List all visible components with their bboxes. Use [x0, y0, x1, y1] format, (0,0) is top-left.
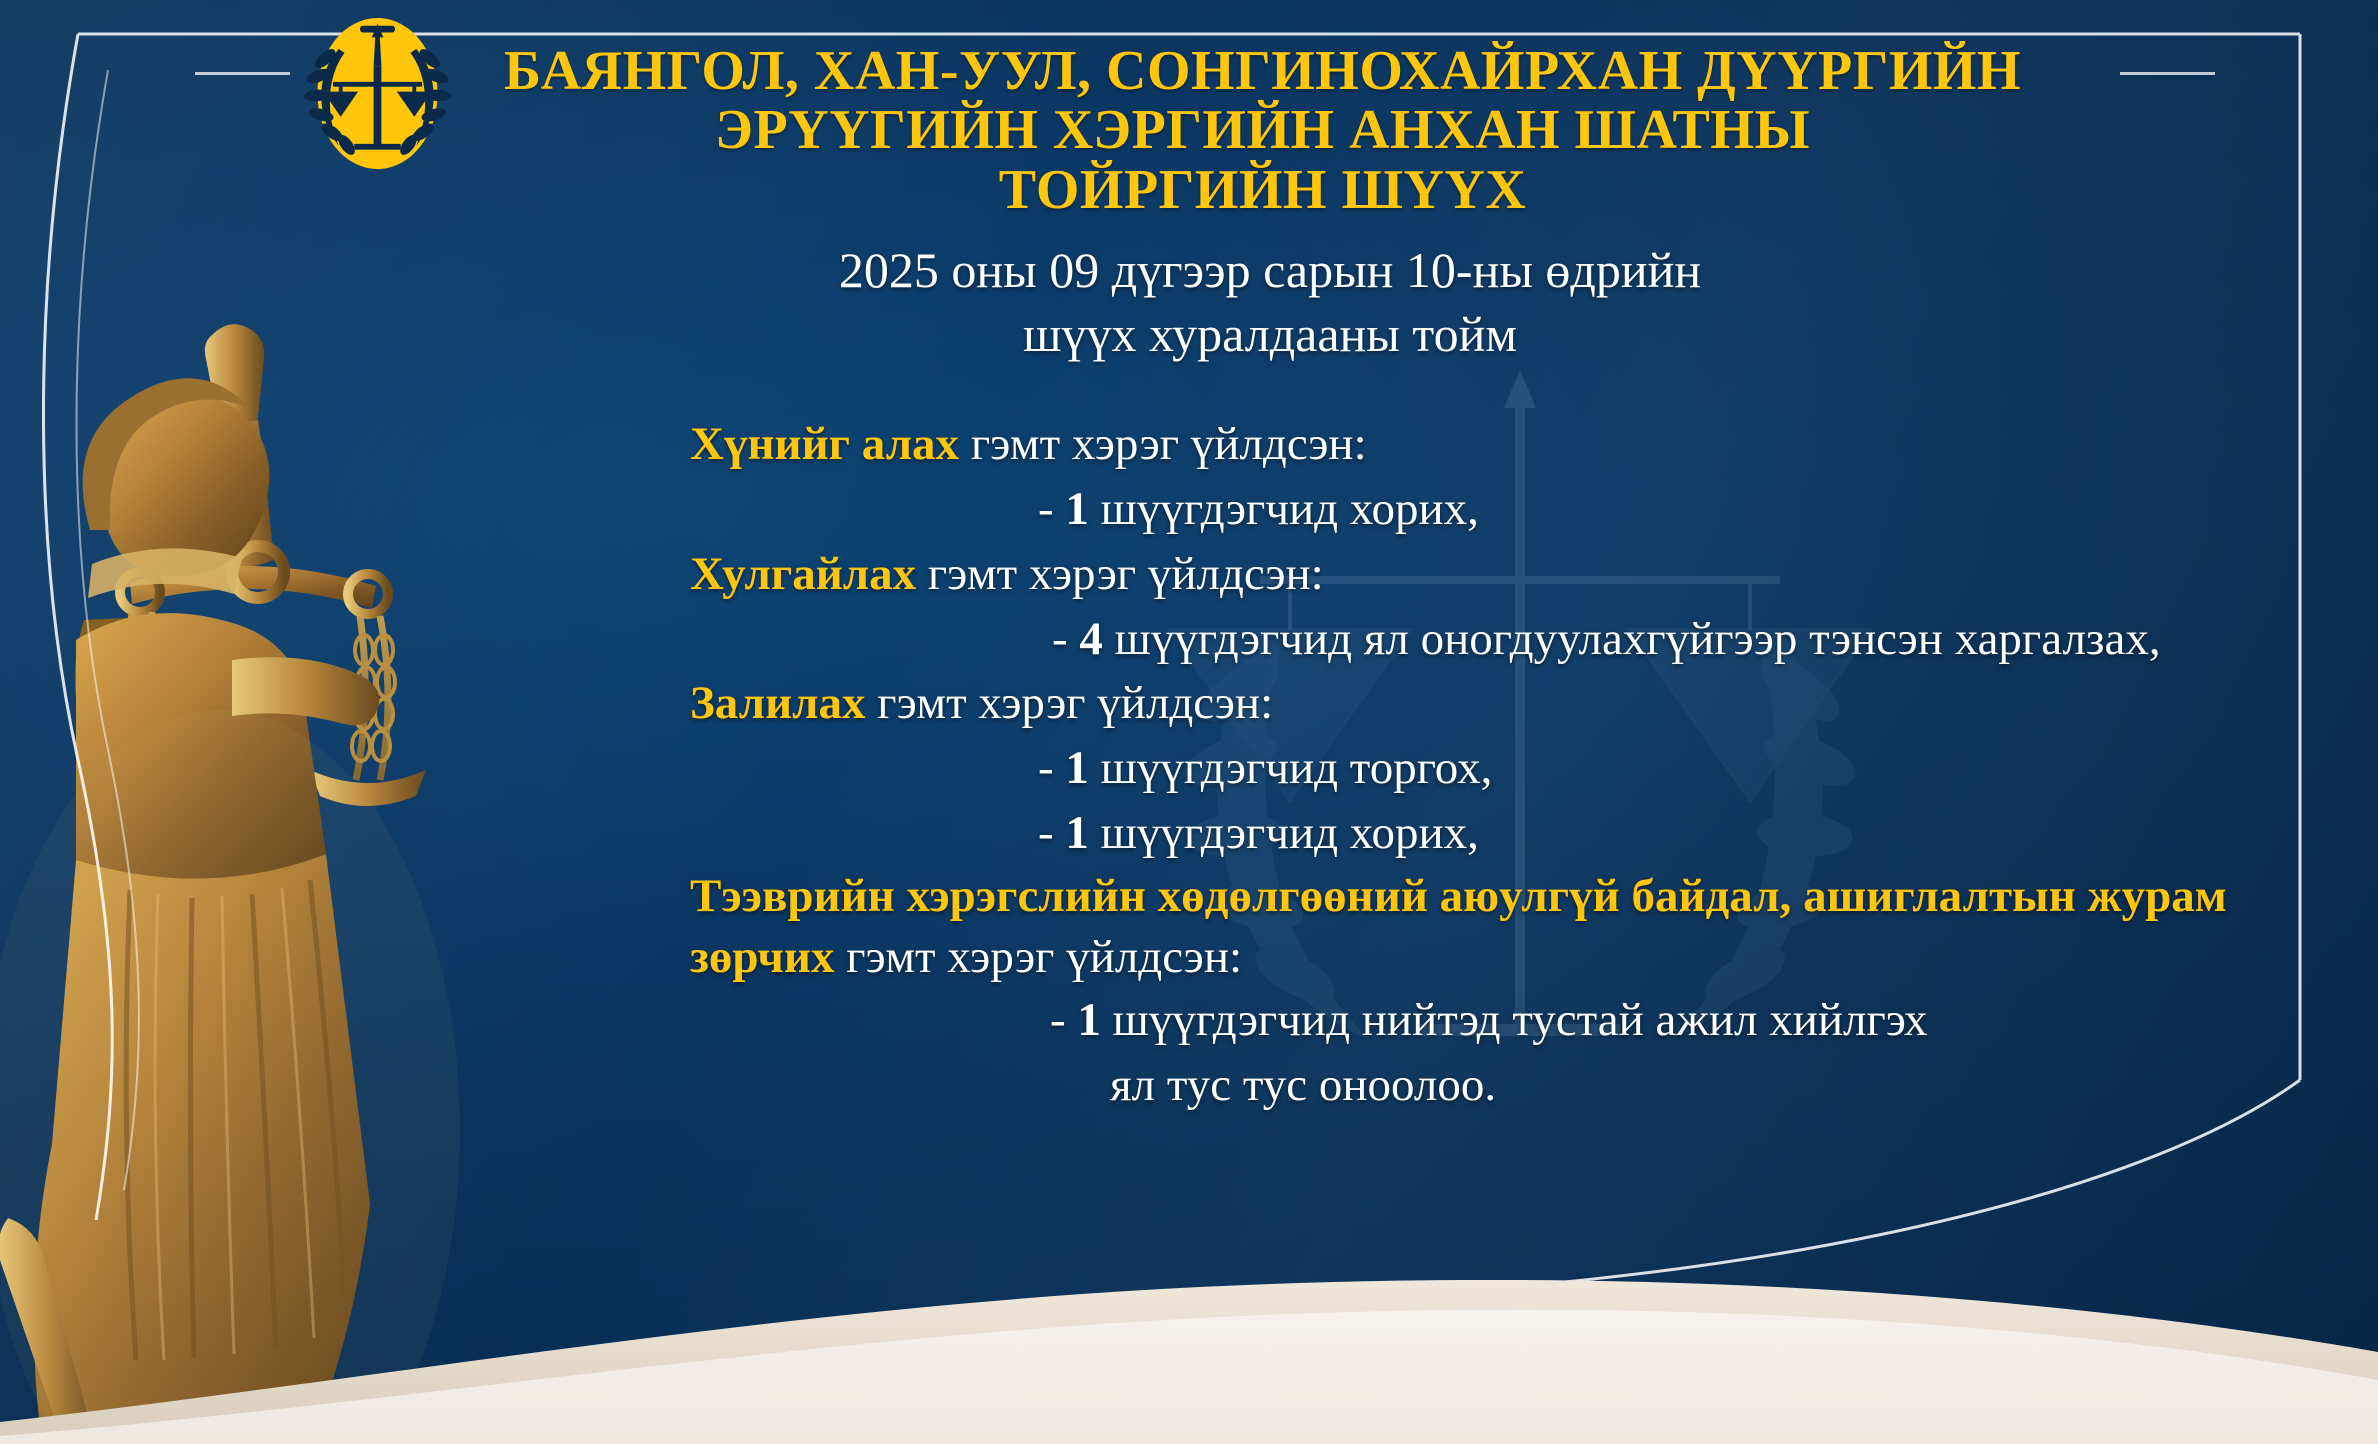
ruling-text: шүүгдэгчид торгох,	[1089, 742, 1492, 794]
title-rule-right	[2120, 72, 2215, 75]
poster-header: БАЯНГОЛ, ХАН-УУЛ, СОНГИНОХАЙРХАН ДҮҮРГИЙ…	[300, 14, 2100, 220]
title-rule-left	[195, 72, 290, 75]
ruling-line: - 1 шүүгдэгчид нийтэд тустай ажил хийлгэ…	[690, 988, 2250, 1053]
crime-heading: Хүнийг алах гэмт хэрэг үйлдсэн:	[690, 412, 2250, 477]
session-date-block: 2025 оны 09 дүгээр сарын 10-ны өдрийн шү…	[560, 238, 1980, 366]
crime-heading: Хулгайлах гэмт хэрэг үйлдсэн:	[690, 542, 2250, 607]
ruling-count: 1	[1077, 994, 1101, 1046]
closing-text: ял тус тус оноолоо.	[1110, 1059, 1496, 1111]
title-line-3: ТОЙРГИЙН ШҮҮХ	[425, 161, 2100, 220]
ruling-text: шүүгдэгчид хорих,	[1089, 483, 1479, 535]
crime-suffix: гэмт хэрэг үйлдсэн:	[834, 931, 1242, 983]
crime-heading: Залилах гэмт хэрэг үйлдсэн:	[690, 671, 2250, 736]
ruling-dash: -	[1038, 742, 1065, 794]
ruling-dash: -	[1052, 613, 1079, 665]
crime-heading: Тээврийн хэрэгслийн хөдөлгөөний аюулгүй …	[690, 866, 2250, 988]
title-line-1: БАЯНГОЛ, ХАН-УУЛ, СОНГИНОХАЙРХАН ДҮҮРГИЙ…	[425, 42, 2100, 101]
ruling-line: - 1 шүүгдэгчид торгох,	[690, 736, 2250, 801]
crime-name: Хүнийг алах	[690, 418, 959, 470]
ruling-dash: -	[1038, 807, 1065, 859]
crime-name: Залилах	[690, 677, 866, 729]
title-line-2: ЭРҮҮГИЙН ХЭРГИЙН АНХАН ШАТНЫ	[425, 101, 2100, 160]
crime-suffix: гэмт хэрэг үйлдсэн:	[959, 418, 1367, 470]
session-date-line-2: шүүх хуралдааны тойм	[560, 302, 1980, 366]
ruling-text: шүүгдэгчид хорих,	[1089, 807, 1479, 859]
ruling-line: - 4 шүүгдэгчид ял оногдуулахгүйгээр тэнс…	[690, 607, 2250, 672]
crime-suffix: гэмт хэрэг үйлдсэн:	[866, 677, 1274, 729]
ruling-line: - 1 шүүгдэгчид хорих,	[690, 477, 2250, 542]
bottom-wave-decoration	[0, 1184, 2378, 1444]
ruling-line: - 1 шүүгдэгчид хорих,	[690, 801, 2250, 866]
verdict-summary-body: Хүнийг алах гэмт хэрэг үйлдсэн: - 1 шүүг…	[690, 412, 2250, 1118]
ruling-count: 1	[1065, 742, 1089, 794]
ruling-dash: -	[1038, 483, 1065, 535]
crime-name: Хулгайлах	[690, 548, 916, 600]
ruling-text: шүүгдэгчид ял оногдуулахгүйгээр тэнсэн х…	[1103, 613, 2161, 665]
ruling-count: 4	[1079, 613, 1103, 665]
page-title: БАЯНГОЛ, ХАН-УУЛ, СОНГИНОХАЙРХАН ДҮҮРГИЙ…	[425, 14, 2100, 220]
ruling-text: шүүгдэгчид нийтэд тустай ажил хийлгэх	[1101, 994, 1928, 1046]
closing-line: ял тус тус оноолоо.	[690, 1053, 2250, 1118]
ruling-count: 1	[1065, 483, 1089, 535]
ruling-count: 1	[1065, 807, 1089, 859]
ruling-dash: -	[1050, 994, 1077, 1046]
session-date-line-1: 2025 оны 09 дүгээр сарын 10-ны өдрийн	[560, 238, 1980, 302]
crime-suffix: гэмт хэрэг үйлдсэн:	[916, 548, 1324, 600]
poster-canvas: БАЯНГОЛ, ХАН-УУЛ, СОНГИНОХАЙРХАН ДҮҮРГИЙ…	[0, 0, 2378, 1444]
